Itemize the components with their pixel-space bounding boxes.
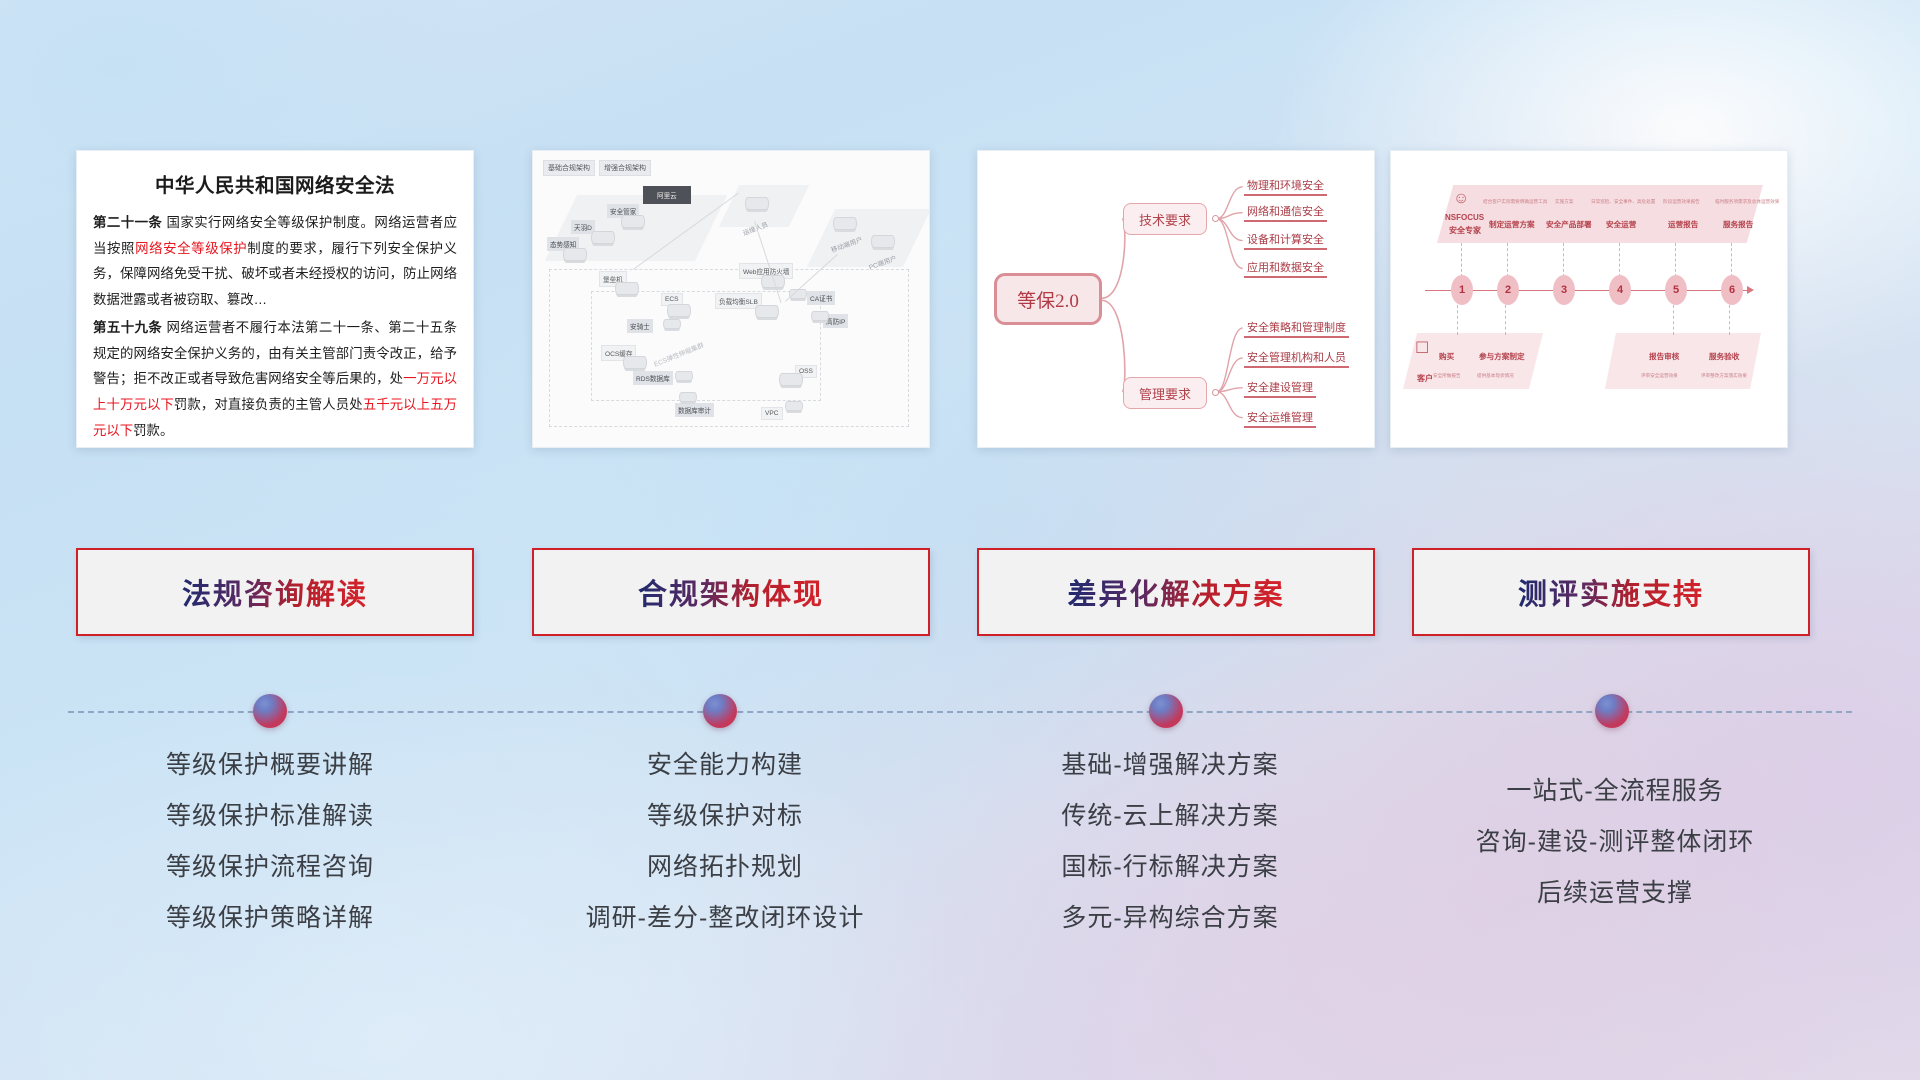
puck-situational-awareness xyxy=(563,248,587,261)
mindmap-leaf-org-personnel: 安全管理机构和人员 xyxy=(1244,349,1349,368)
tick-down-6 xyxy=(1729,305,1730,335)
puck-ops-personnel xyxy=(745,197,769,210)
bottom-step-3-sub: 评审安全运营效果 xyxy=(1641,373,1678,379)
node-agent-anqishi: 安骑士 xyxy=(627,319,653,333)
tick-1 xyxy=(1461,243,1462,277)
puck-slb xyxy=(755,305,779,318)
puck-rds xyxy=(675,371,693,381)
list-item: 传统-云上解决方案 xyxy=(955,791,1385,842)
puck-pc-user xyxy=(871,235,895,248)
expert-name-line1: NSFOCUS xyxy=(1445,213,1484,222)
puck-mobile-user xyxy=(833,217,857,230)
law-document: 中华人民共和国网络安全法 第二十一条 国家实行网络安全等级保护制度。网络运营者应… xyxy=(77,151,473,448)
puck-oss xyxy=(779,373,803,386)
list-item: 一站式-全流程服务 xyxy=(1400,766,1830,817)
mindmap-collapse-dot-management[interactable] xyxy=(1212,389,1219,396)
mindmap-branch-management[interactable]: 管理要求 xyxy=(1123,377,1207,409)
timeline-marker-1[interactable] xyxy=(253,694,287,728)
detail-list-row: 等级保护概要讲解 等级保护标准解读 等级保护流程咨询 等级保护策略详解 安全能力… xyxy=(0,740,1920,970)
timeline-marker-4[interactable] xyxy=(1595,694,1629,728)
list-item: 安全能力构建 xyxy=(510,740,940,791)
mindmap: 等保2.0 技术要求 物理和环境安全 网络和通信安全 设备和计算安全 应用和数据… xyxy=(978,151,1374,447)
top-step-1-label: 制定运营方案 xyxy=(1489,219,1535,230)
headline-box-evaluation-support[interactable]: 测评实施支持 xyxy=(1412,548,1810,636)
timeline-dashed-line xyxy=(68,711,1852,713)
list-item: 基础-增强解决方案 xyxy=(955,740,1385,791)
headline-box-differentiated-solution[interactable]: 差异化解决方案 xyxy=(977,548,1375,636)
node-ca-certificate: CA证书 xyxy=(807,291,835,305)
list-item: 咨询-建设-测评整体闭环 xyxy=(1400,817,1830,868)
timeline-marker-2[interactable] xyxy=(703,694,737,728)
top-step-2-sub: 实施方案 xyxy=(1555,199,1573,205)
list-item: 等级保护概要讲解 xyxy=(55,740,485,791)
tick-6 xyxy=(1731,243,1732,277)
timeline-node-1[interactable]: 1 xyxy=(1451,275,1473,305)
list-item: 国标-行标解决方案 xyxy=(955,842,1385,893)
nsfocus-timeline: ☺ NSFOCUS 安全专家 结合客户实际需要明确运营工具 制定运营方案 实施方… xyxy=(1391,151,1787,447)
label-aliyun: 阿里云 xyxy=(643,186,691,204)
tick-5 xyxy=(1675,243,1676,277)
law-article-21: 第二十一条 国家实行网络安全等级保护制度。网络运营者应当按照网络安全等级保护制度… xyxy=(93,210,457,313)
architecture-tabs: 基础合规架构 增强合规架构 xyxy=(543,160,651,176)
puck-ocs xyxy=(623,356,647,369)
bottom-step-3-label: 报告审核 xyxy=(1649,351,1679,362)
top-step-5-sub: 临时服务项需求及总体运营效果 xyxy=(1715,199,1779,205)
top-step-4-label: 运营报告 xyxy=(1668,219,1698,230)
tick-2 xyxy=(1507,243,1508,277)
list-item: 后续运营支撑 xyxy=(1400,868,1830,919)
node-vpc: VPC xyxy=(761,407,783,420)
top-step-2-label: 安全产品部署 xyxy=(1546,219,1592,230)
top-step-3-label: 安全运营 xyxy=(1606,219,1636,230)
bottom-step-1-sub: 安全所做报告 xyxy=(1433,373,1461,379)
page-root: 中华人民共和国网络安全法 第二十一条 国家实行网络安全等级保护制度。网络运营者应… xyxy=(0,0,1920,1080)
tick-3 xyxy=(1563,243,1564,277)
top-step-1-sub: 结合客户实际需要明确运营工具 xyxy=(1483,199,1547,205)
headline-label-1: 法规咨询解读 xyxy=(182,571,368,613)
top-step-5-label: 服务报告 xyxy=(1723,219,1753,230)
list-item: 多元-异构综合方案 xyxy=(955,893,1385,944)
detail-column-3: 基础-增强解决方案 传统-云上解决方案 国标-行标解决方案 多元-异构综合方案 xyxy=(955,740,1385,944)
law-title: 中华人民共和国网络安全法 xyxy=(93,169,457,198)
timeline-node-4[interactable]: 4 xyxy=(1609,275,1631,305)
card-nsfocus-timeline[interactable]: ☺ NSFOCUS 安全专家 结合客户实际需要明确运营工具 制定运营方案 实施方… xyxy=(1390,150,1788,448)
puck-vpc xyxy=(785,401,803,411)
mindmap-leaf-network-comm: 网络和通信安全 xyxy=(1244,203,1327,222)
tab-enhanced-architecture[interactable]: 增强合规架构 xyxy=(599,160,651,176)
list-item: 等级保护流程咨询 xyxy=(55,842,485,893)
timeline-marker-3[interactable] xyxy=(1149,694,1183,728)
mindmap-leaf-physical-env: 物理和环境安全 xyxy=(1244,177,1327,196)
list-item: 等级保护对标 xyxy=(510,791,940,842)
detail-column-4: 一站式-全流程服务 咨询-建设-测评整体闭环 后续运营支撑 xyxy=(1400,740,1830,919)
mindmap-leaf-construction-mgmt: 安全建设管理 xyxy=(1244,379,1316,398)
timeline-arrow-icon xyxy=(1747,286,1754,294)
customer-avatar-icon: ☐ xyxy=(1415,341,1429,357)
bottom-step-4-label: 服务验收 xyxy=(1709,351,1739,362)
card-mindmap-dengbao[interactable]: 等保2.0 技术要求 物理和环境安全 网络和通信安全 设备和计算安全 应用和数据… xyxy=(977,150,1375,448)
headline-box-compliance-architecture[interactable]: 合规架构体现 xyxy=(532,548,930,636)
headline-label-4: 测评实施支持 xyxy=(1518,571,1704,613)
timeline-axis xyxy=(1425,290,1749,291)
article-21-run-1: 网络安全等级保护 xyxy=(135,241,247,256)
puck-db-audit xyxy=(679,392,697,402)
mindmap-leaf-device-compute: 设备和计算安全 xyxy=(1244,231,1327,250)
tick-down-1 xyxy=(1457,305,1458,335)
plate-clients xyxy=(807,209,930,267)
band-expert xyxy=(1437,185,1763,243)
article-59-number: 第五十九条 xyxy=(93,320,162,335)
puck-anti-ddos xyxy=(811,311,829,321)
node-rds-database: RDS数据库 xyxy=(633,371,673,385)
headline-row: 法规咨询解读 合规架构体现 差异化解决方案 测评实施支持 xyxy=(0,548,1920,644)
timeline-node-3[interactable]: 3 xyxy=(1553,275,1575,305)
article-59-run-4: 罚款。 xyxy=(133,423,173,438)
headline-label-2: 合规架构体现 xyxy=(638,571,824,613)
bottom-step-2-sub: 提供基本现状情况 xyxy=(1477,373,1514,379)
bottom-step-1-label: 购买 xyxy=(1439,351,1454,362)
list-item: 网络拓扑规划 xyxy=(510,842,940,893)
tick-down-2 xyxy=(1505,305,1506,335)
puck-tianyu xyxy=(591,231,615,244)
list-item: 等级保护策略详解 xyxy=(55,893,485,944)
top-step-3-sub: 日常巡检、安全事件、高危处置 xyxy=(1591,199,1655,205)
headline-label-3: 差异化解决方案 xyxy=(1067,571,1284,613)
timeline-node-2[interactable]: 2 xyxy=(1497,275,1519,305)
law-article-59: 第五十九条 网络运营者不履行本法第二十一条、第二十五条规定的网络安全保护义务的，… xyxy=(93,315,457,444)
mindmap-collapse-dot-technical[interactable] xyxy=(1212,215,1219,222)
bottom-step-4-sub: 评审整改方案落实效果 xyxy=(1701,373,1747,379)
puck-security-butler xyxy=(621,215,645,228)
headline-box-regulation-consulting[interactable]: 法规咨询解读 xyxy=(76,548,474,636)
timeline-node-5[interactable]: 5 xyxy=(1665,275,1687,305)
tab-basic-architecture[interactable]: 基础合规架构 xyxy=(543,160,595,176)
list-item: 调研-差分-整改闭环设计 xyxy=(510,893,940,944)
article-21-number: 第二十一条 xyxy=(93,215,162,230)
mindmap-leaf-app-data: 应用和数据安全 xyxy=(1244,259,1327,278)
tick-down-5 xyxy=(1673,305,1674,335)
mindmap-leaf-policy-system: 安全策略和管理制度 xyxy=(1244,319,1349,338)
stage-timeline xyxy=(0,694,1920,730)
expert-name-line2: 安全专家 xyxy=(1449,225,1481,236)
node-database-audit: 数据库审计 xyxy=(675,403,714,417)
architecture-diagram: 基础合规架构 增强合规架构 阿里云 安全管家 天羽D 态势感知 堡垒机 ECS xyxy=(533,151,929,447)
top-step-4-sub: 阶段运营效果报告 xyxy=(1663,199,1700,205)
image-card-row: 中华人民共和国网络安全法 第二十一条 国家实行网络安全等级保护制度。网络运营者应… xyxy=(0,150,1920,448)
list-item: 等级保护标准解读 xyxy=(55,791,485,842)
puck-anqishi xyxy=(663,319,681,329)
detail-column-1: 等级保护概要讲解 等级保护标准解读 等级保护流程咨询 等级保护策略详解 xyxy=(55,740,485,944)
customer-label: 客户 xyxy=(1417,373,1433,384)
article-59-run-2: 罚款，对直接负责的主管人员处 xyxy=(174,397,363,412)
puck-ecs xyxy=(667,304,691,317)
tick-4 xyxy=(1619,243,1620,277)
expert-avatar-icon: ☺ xyxy=(1453,191,1469,207)
detail-column-2: 安全能力构建 等级保护对标 网络拓扑规划 调研-差分-整改闭环设计 xyxy=(510,740,940,944)
card-compliance-architecture[interactable]: 基础合规架构 增强合规架构 阿里云 安全管家 天羽D 态势感知 堡垒机 ECS xyxy=(532,150,930,448)
timeline-node-6[interactable]: 6 xyxy=(1721,275,1743,305)
card-cybersecurity-law[interactable]: 中华人民共和国网络安全法 第二十一条 国家实行网络安全等级保护制度。网络运营者应… xyxy=(76,150,474,448)
mindmap-branch-technical[interactable]: 技术要求 xyxy=(1123,203,1207,235)
mindmap-root-node[interactable]: 等保2.0 xyxy=(994,273,1102,325)
mindmap-leaf-ops-mgmt: 安全运维管理 xyxy=(1244,409,1316,428)
puck-bastion-host xyxy=(615,282,639,295)
bottom-step-2-label: 参与方案制定 xyxy=(1479,351,1525,362)
